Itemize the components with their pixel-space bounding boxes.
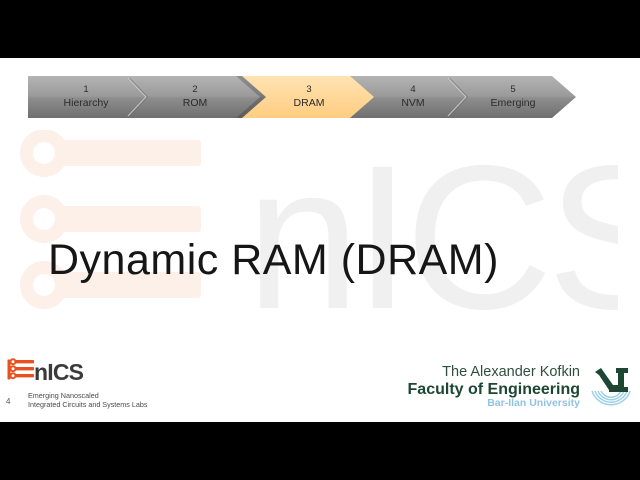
enics-watermark: nICS	[18, 130, 618, 330]
slide-footer: 4	[0, 354, 640, 422]
progress-step-1-number: 1	[83, 84, 88, 95]
enics-logo-mark: nICS	[6, 358, 106, 392]
enics-wordmark: nICS	[34, 359, 84, 385]
slide-title: Dynamic RAM (DRAM)	[48, 236, 499, 285]
biu-text-block: The Alexander Kofkin Faculty of Engineer…	[408, 365, 580, 411]
slide-canvas: nICS	[0, 58, 640, 422]
letterbox-top	[0, 0, 640, 58]
progress-step-3-label: DRAM	[294, 97, 325, 109]
progress-step-1-label: Hierarchy	[64, 97, 110, 109]
progress-step-3-number: 3	[306, 84, 311, 95]
enics-tagline-line-1: Emerging Nanoscaled	[28, 391, 147, 400]
enics-circuit-icon	[8, 358, 35, 379]
biu-branding: The Alexander Kofkin Faculty of Engineer…	[408, 354, 636, 422]
progress-step-4-number: 4	[410, 84, 415, 95]
enics-logo: nICS Emerging Nanoscaled Integrated Circ…	[6, 358, 186, 416]
progress-step-5-number: 5	[510, 84, 515, 95]
bar-ilan-emblem-icon	[586, 363, 636, 413]
enics-tagline-line-2: Integrated Circuits and Systems Labs	[28, 400, 147, 409]
biu-line-alexander-kofkin: The Alexander Kofkin	[408, 365, 580, 381]
progress-step-2-number: 2	[192, 84, 197, 95]
presentation-slide: nICS	[0, 0, 640, 480]
biu-line-faculty-of-engineering: Faculty of Engineering	[408, 381, 580, 398]
enics-tagline: Emerging Nanoscaled Integrated Circuits …	[28, 391, 147, 409]
progress-step-2-label: ROM	[183, 97, 208, 109]
progress-step-5-label: Emerging	[491, 97, 536, 109]
biu-emblem-letters	[595, 368, 628, 392]
progress-chevron-bar: 1 Hierarchy 2 ROM 3 DRAM 4 NVM 5 Emerg	[28, 76, 576, 118]
biu-line-bar-ilan-university: Bar-Ilan University	[408, 398, 580, 409]
watermark-wordmark: nICS	[246, 130, 618, 330]
letterbox-bottom	[0, 422, 640, 480]
biu-emblem-arcs	[592, 391, 630, 405]
progress-step-4-label: NVM	[401, 97, 424, 109]
